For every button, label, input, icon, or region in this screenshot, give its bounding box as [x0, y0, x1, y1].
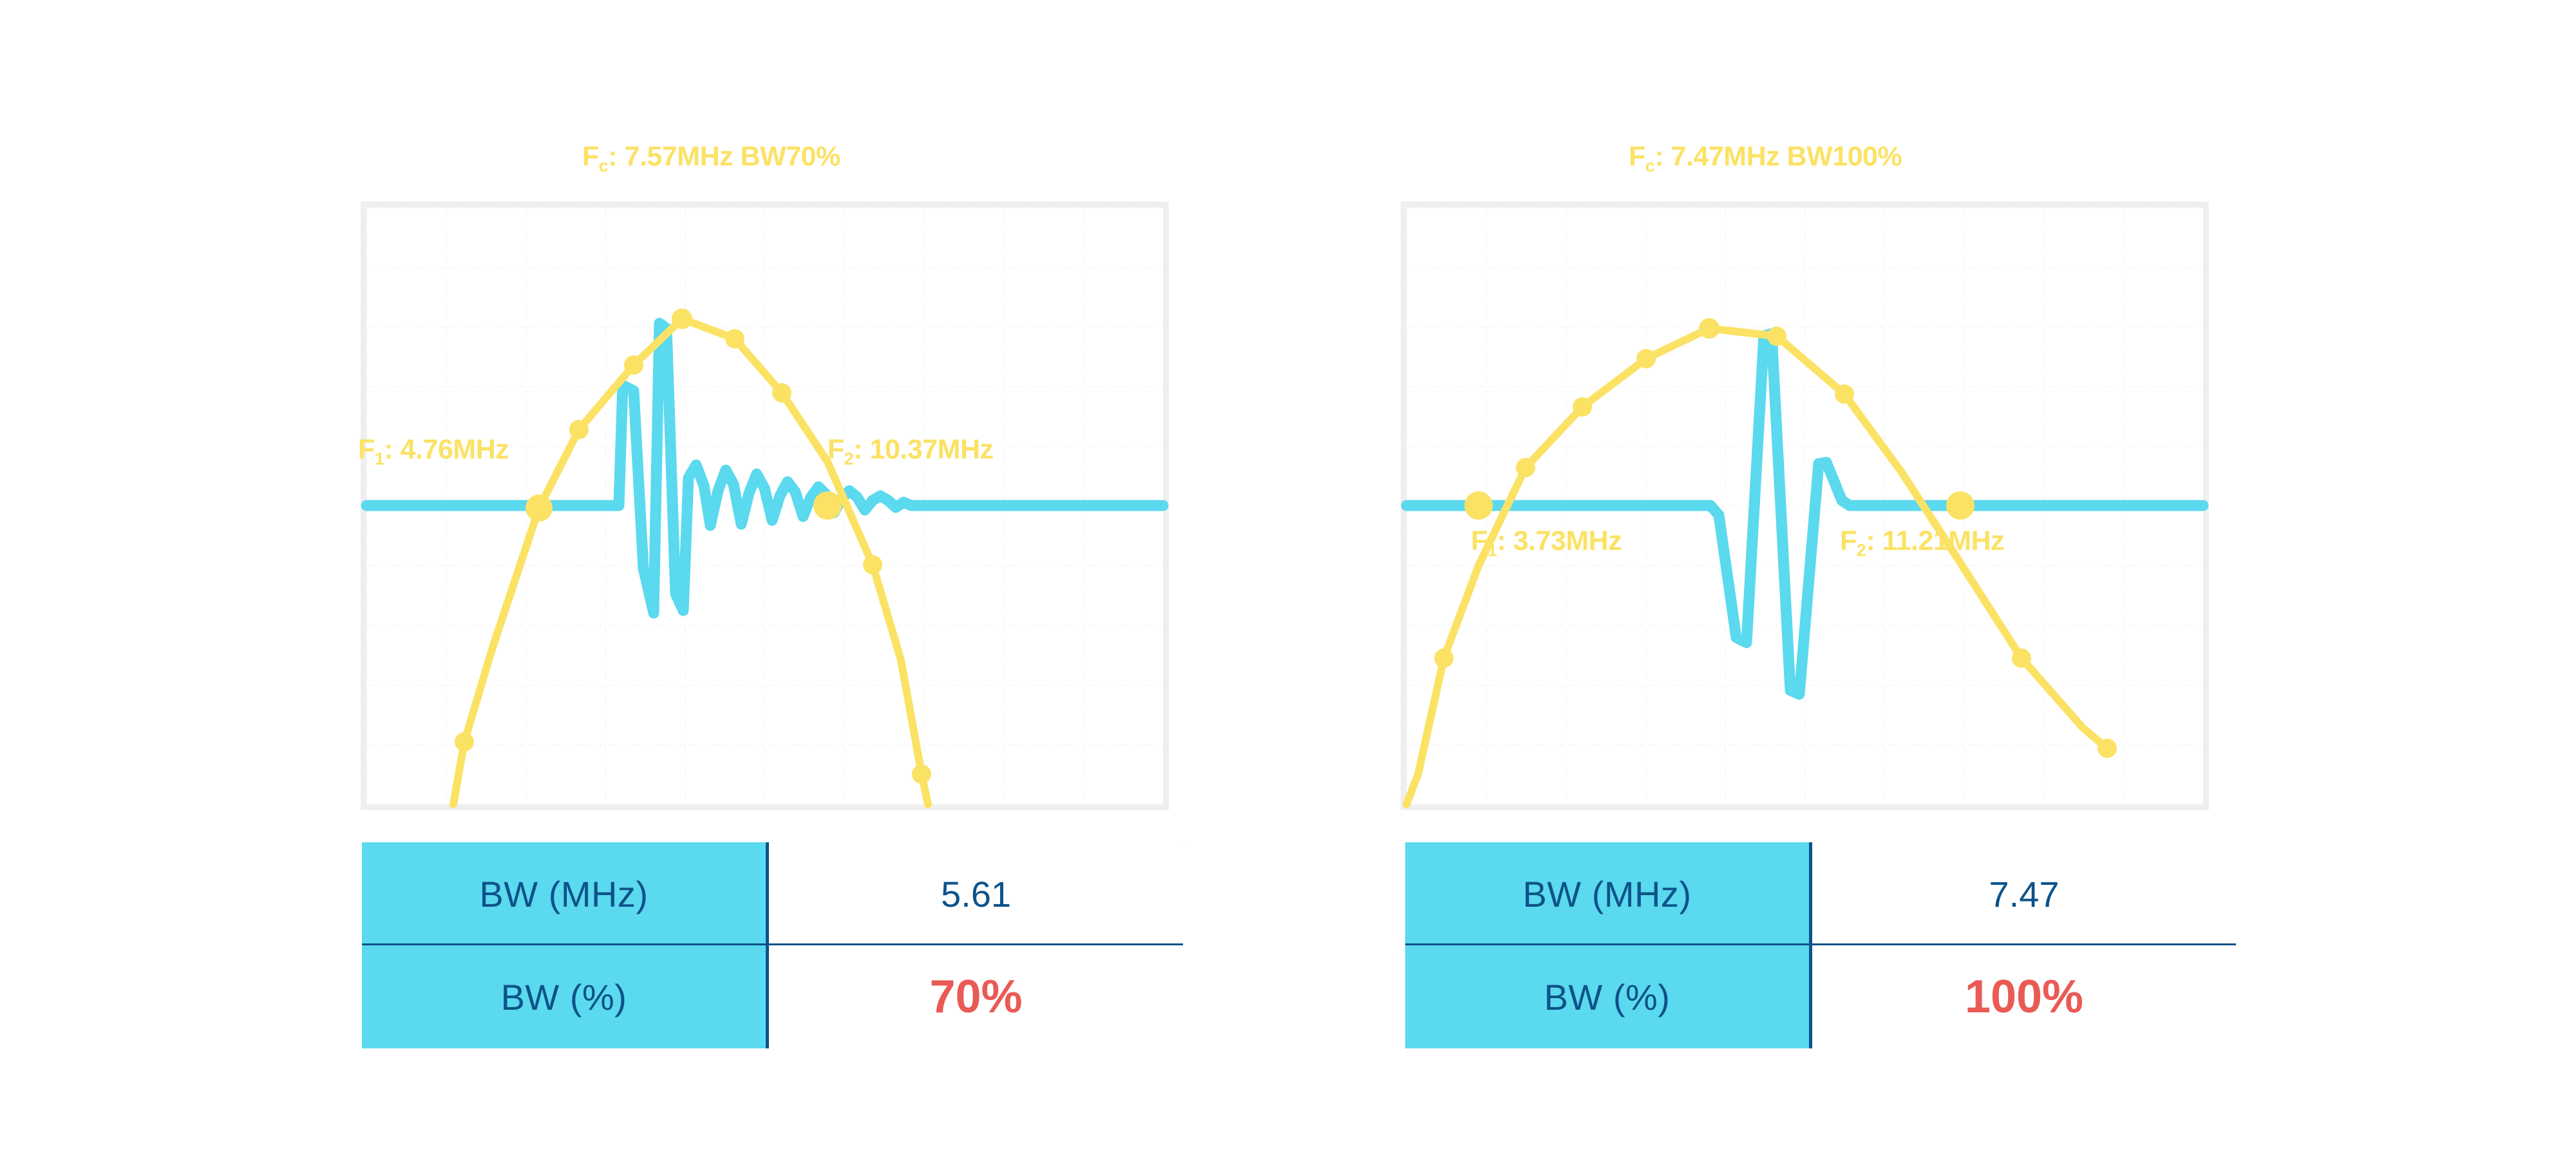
row-value-label: 7.47 [1989, 873, 2060, 915]
row-header-bw-percent: BW (%) [1405, 945, 1812, 1048]
label-f1-right: F1: 3.73MHz [1471, 525, 1622, 561]
row-value-bw-mhz: 7.47 [1812, 842, 2236, 945]
panel-broadband: Fc: 7.47MHz BW100% F1: 3.73MHz F2: 11.21… [1050, 0, 2338, 1154]
chart-frame-right: Fc: 7.47MHz BW100% F1: 3.73MHz F2: 11.21… [1401, 202, 2209, 810]
row-value-label: 70% [929, 970, 1022, 1023]
label-f1-left: F1: 4.76MHz [358, 434, 509, 469]
row-header-label: BW (MHz) [1522, 873, 1691, 915]
row-header-bw-mhz: BW (MHz) [1405, 842, 1812, 945]
results-table-right: BW (MHz) 7.47 BW (%) 100% [1405, 842, 2236, 1048]
spectrum-chart-right [1406, 207, 2203, 804]
spectrum-chart-left [366, 207, 1163, 804]
figure-canvas: Fc: 7.57MHz BW70% F1: 4.76MHz F2: 10.37M… [0, 0, 2576, 1154]
row-header-bw-percent: BW (%) [362, 945, 769, 1048]
label-center-frequency-right: Fc: 7.47MHz BW100% [1629, 141, 1902, 176]
row-header-label: BW (MHz) [479, 873, 648, 915]
table-row: BW (MHz) 7.47 [1405, 842, 2236, 945]
label-f2-left: F2: 10.37MHz [828, 434, 994, 469]
row-header-bw-mhz: BW (MHz) [362, 842, 769, 945]
chart-frame-left: Fc: 7.57MHz BW70% F1: 4.76MHz F2: 10.37M… [361, 202, 1169, 810]
row-header-label: BW (%) [1544, 976, 1671, 1018]
row-value-label: 5.61 [941, 873, 1011, 915]
row-header-label: BW (%) [501, 976, 627, 1018]
label-f2-right: F2: 11.21MHz [1840, 525, 2004, 561]
row-value-bw-percent: 100% [1812, 945, 2236, 1048]
table-row: BW (%) 100% [1405, 945, 2236, 1048]
label-center-frequency-left: Fc: 7.57MHz BW70% [582, 141, 840, 176]
row-value-label: 100% [1965, 970, 2083, 1023]
